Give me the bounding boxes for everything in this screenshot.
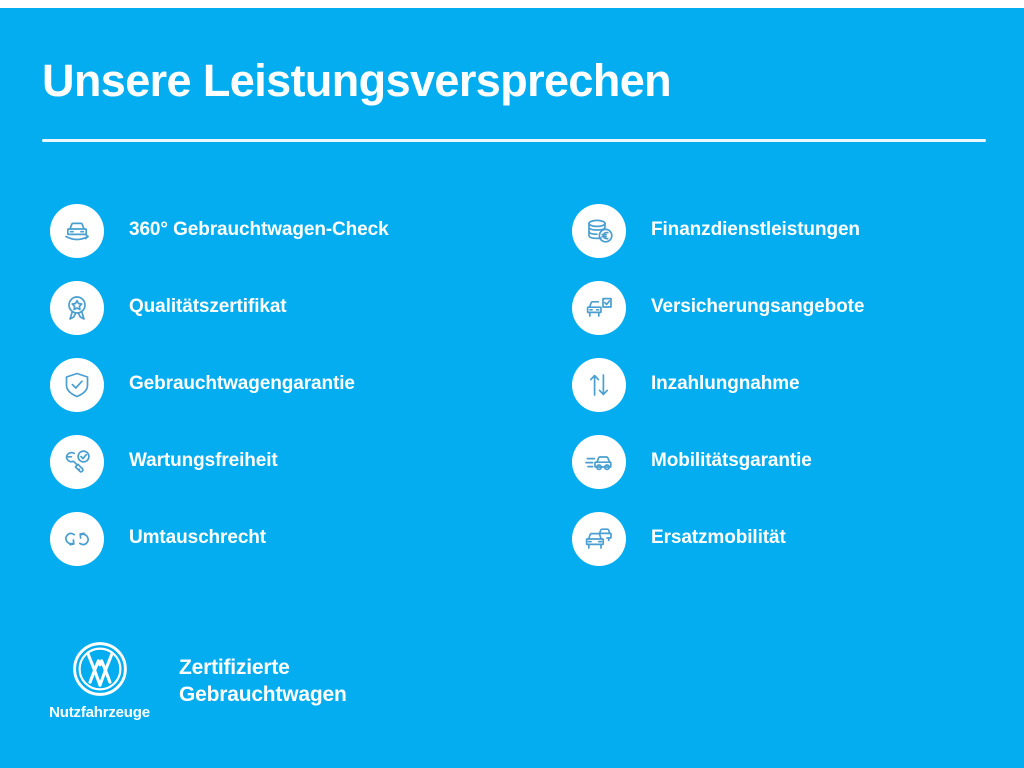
page-title: Unsere Leistungsversprechen: [42, 55, 671, 107]
promise-icon-badge: [50, 512, 104, 566]
promise-item: Qualitätszertifikat: [50, 281, 520, 358]
slide-canvas: Unsere Leistungsversprechen 360° Gebrauc…: [0, 8, 1024, 768]
promise-column-left: 360° Gebrauchtwagen-Check Qualitätszerti…: [50, 204, 520, 589]
promise-icon-badge: [572, 204, 626, 258]
promise-label: Qualitätszertifikat: [129, 296, 287, 318]
promise-icon-badge: [572, 358, 626, 412]
promise-label: Mobilitätsgarantie: [651, 450, 812, 472]
footer-tagline-line1: Zertifizierte: [179, 654, 347, 681]
promise-item: Inzahlungnahme: [572, 358, 1012, 435]
volkswagen-logo: [71, 640, 129, 698]
promise-item: Finanzdienstleistungen: [572, 204, 1012, 281]
promise-icon-badge: [572, 435, 626, 489]
wrench-check-icon: [61, 446, 93, 478]
promise-label: 360° Gebrauchtwagen-Check: [129, 219, 389, 241]
car-360-check-icon: [61, 215, 93, 247]
promise-label: Inzahlungnahme: [651, 373, 800, 395]
promise-icon-badge: [50, 358, 104, 412]
shield-check-icon: [61, 369, 93, 401]
promise-column-right: Finanzdienstleistungen Versicheru: [572, 204, 1012, 589]
promise-item: Mobilitätsgarantie: [572, 435, 1012, 512]
promise-item: Wartungsfreiheit: [50, 435, 520, 512]
title-divider: [42, 139, 986, 142]
coins-euro-icon: [583, 215, 615, 247]
footer: Nutzfahrzeuge Zertifizierte Gebrauchtwag…: [42, 640, 347, 721]
promise-label: Versicherungsangebote: [651, 296, 864, 318]
promise-label: Finanzdienstleistungen: [651, 219, 860, 241]
promise-item: Gebrauchtwagengarantie: [50, 358, 520, 435]
promise-label: Ersatzmobilität: [651, 527, 786, 549]
promise-item: 360° Gebrauchtwagen-Check: [50, 204, 520, 281]
footer-tagline: Zertifizierte Gebrauchtwagen: [179, 654, 347, 708]
car-motion-icon: [583, 446, 615, 478]
promise-label: Wartungsfreiheit: [129, 450, 278, 472]
promise-item: Umtauschrecht: [50, 512, 520, 589]
promise-icon-badge: [572, 281, 626, 335]
brand-sub-label: Nutzfahrzeuge: [49, 704, 150, 721]
promise-icon-badge: [50, 435, 104, 489]
footer-tagline-line2: Gebrauchtwagen: [179, 681, 347, 708]
exchange-arrows-icon: [61, 523, 93, 555]
car-document-check-icon: [583, 292, 615, 324]
promise-item: Versicherungsangebote: [572, 281, 1012, 358]
two-cars-icon: [583, 523, 615, 555]
promise-label: Umtauschrecht: [129, 527, 266, 549]
up-down-arrows-icon: [583, 369, 615, 401]
promise-icon-badge: [50, 204, 104, 258]
promise-icon-badge: [50, 281, 104, 335]
award-rosette-icon: [61, 292, 93, 324]
brand-logo-block: Nutzfahrzeuge: [42, 640, 157, 721]
promise-item: Ersatzmobilität: [572, 512, 1012, 589]
promise-label: Gebrauchtwagengarantie: [129, 373, 355, 395]
promise-icon-badge: [572, 512, 626, 566]
